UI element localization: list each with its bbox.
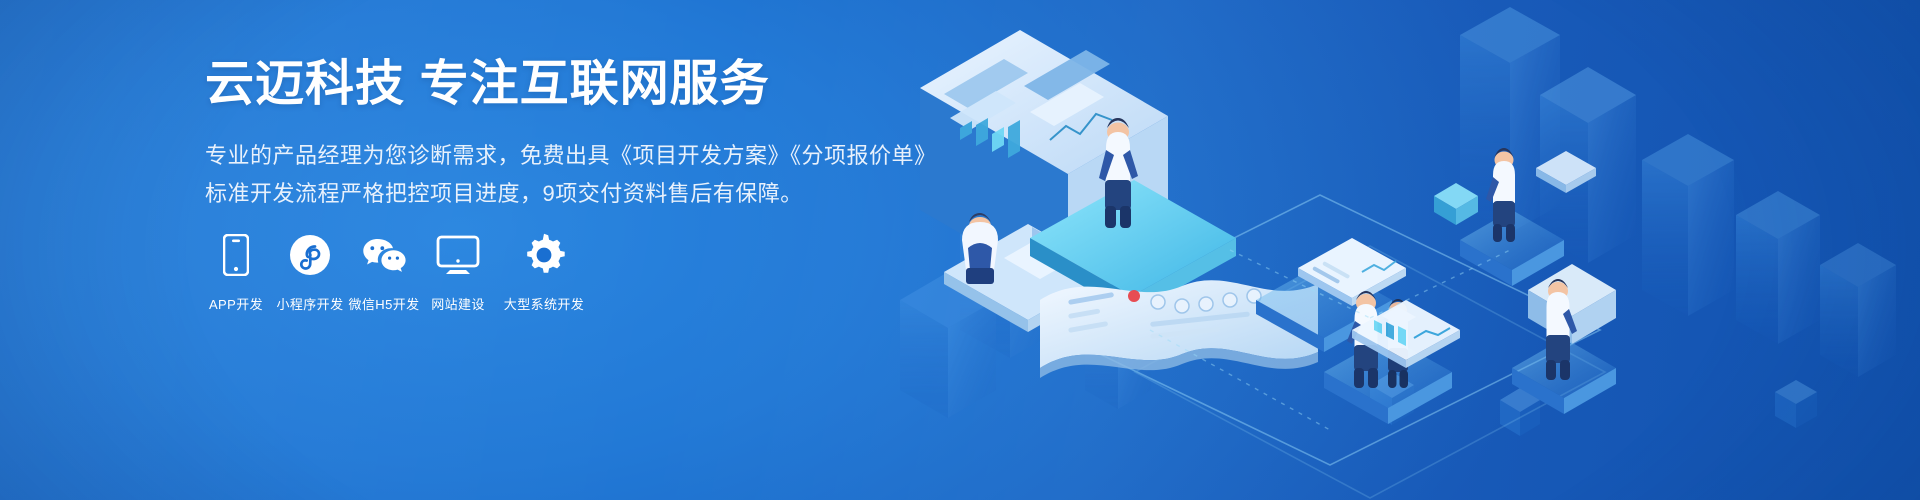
service-label: APP开发 (209, 294, 263, 313)
service-label: 网站建设 (431, 294, 485, 313)
mini-program-icon (289, 232, 331, 278)
hero-banner: 云迈科技 专注互联网服务 专业的产品经理为您诊断需求，免费出具《项目开发方案》《… (0, 0, 1920, 500)
service-item-large-system[interactable]: 大型系统开发 (496, 232, 592, 313)
service-item-website[interactable]: 网站建设 (422, 232, 494, 313)
isometric-team-dashboard-illustration (900, 0, 1920, 500)
monitor-icon (436, 232, 480, 278)
service-icon-row: APP开发 小程序开发 微信 (200, 232, 594, 313)
hero-copy: 云迈科技 专注互联网服务 专业的产品经理为您诊断需求，免费出具《项目开发方案》《… (205, 60, 925, 213)
service-item-wechat-h5[interactable]: 微信H5开发 (348, 232, 420, 313)
service-item-mini-program[interactable]: 小程序开发 (274, 232, 346, 313)
subtitle-line-2: 标准开发流程严格把控项目进度，9项交付资料售后有保障。 (205, 175, 925, 213)
mobile-phone-icon (223, 232, 249, 278)
service-label: 大型系统开发 (504, 294, 584, 313)
service-item-app[interactable]: APP开发 (200, 232, 272, 313)
wechat-icon (360, 232, 408, 278)
page-title: 云迈科技 专注互联网服务 (205, 60, 925, 109)
gear-icon (522, 232, 566, 278)
service-label: 微信H5开发 (348, 294, 419, 313)
service-label: 小程序开发 (276, 294, 343, 313)
subtitle-line-1: 专业的产品经理为您诊断需求，免费出具《项目开发方案》《分项报价单》 (205, 137, 925, 175)
